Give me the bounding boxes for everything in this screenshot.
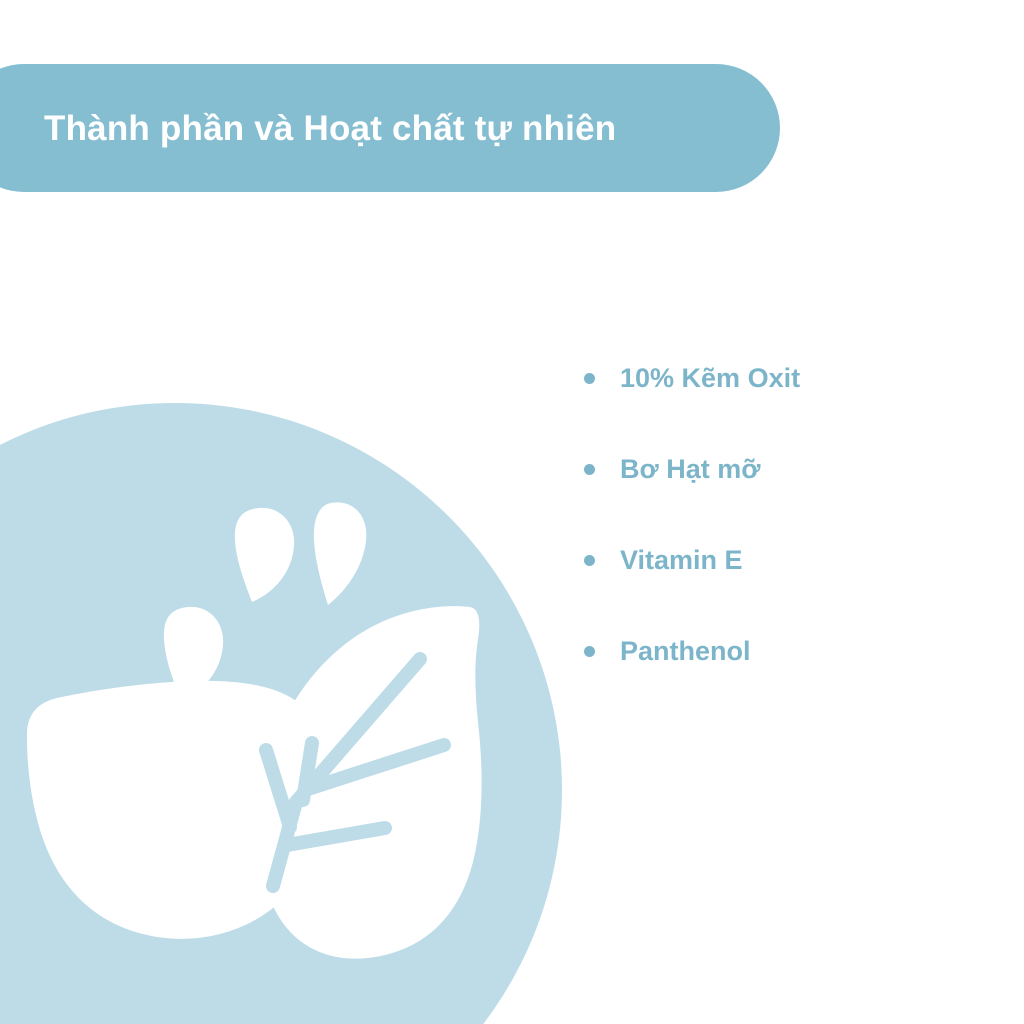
bullet-dot-icon (584, 646, 595, 657)
decorative-circle (0, 403, 562, 1024)
ingredient-label: Vitamin E (620, 547, 743, 574)
page-title: Thành phần và Hoạt chất tự nhiên (44, 111, 616, 146)
petal-icon-center (235, 508, 294, 602)
poster-canvas: Thành phần và Hoạt chất tự nhiên 10% Kẽm… (0, 0, 1024, 1024)
leaf-vein-branch-left (266, 750, 290, 827)
leaf-vein-branch-lower-right (287, 828, 385, 845)
list-item: Panthenol (584, 628, 984, 674)
leaf-vein-group (266, 659, 444, 886)
ingredient-label: Bơ Hạt mỡ (620, 456, 760, 483)
leaf-icon-right (258, 606, 482, 959)
ingredient-label: Panthenol (620, 638, 751, 665)
ingredient-list: 10% Kẽm Oxit Bơ Hạt mỡ Vitamin E Panthen… (584, 355, 984, 674)
petal-icon-right (314, 502, 366, 605)
bullet-dot-icon (584, 555, 595, 566)
petal-icon-left (164, 607, 223, 701)
leaf-icon-left (27, 681, 327, 939)
header-banner: Thành phần và Hoạt chất tự nhiên (0, 64, 780, 192)
ingredient-label: 10% Kẽm Oxit (620, 365, 800, 392)
leaf-vein-midrib (273, 659, 420, 886)
bullet-dot-icon (584, 464, 595, 475)
list-item: 10% Kẽm Oxit (584, 355, 984, 401)
bullet-dot-icon (584, 373, 595, 384)
list-item: Bơ Hạt mỡ (584, 446, 984, 492)
leaf-vein-branch-upper-left (303, 743, 312, 800)
leaf-vein-branch-upper-right (305, 745, 444, 790)
petal-group (164, 502, 366, 701)
list-item: Vitamin E (584, 537, 984, 583)
